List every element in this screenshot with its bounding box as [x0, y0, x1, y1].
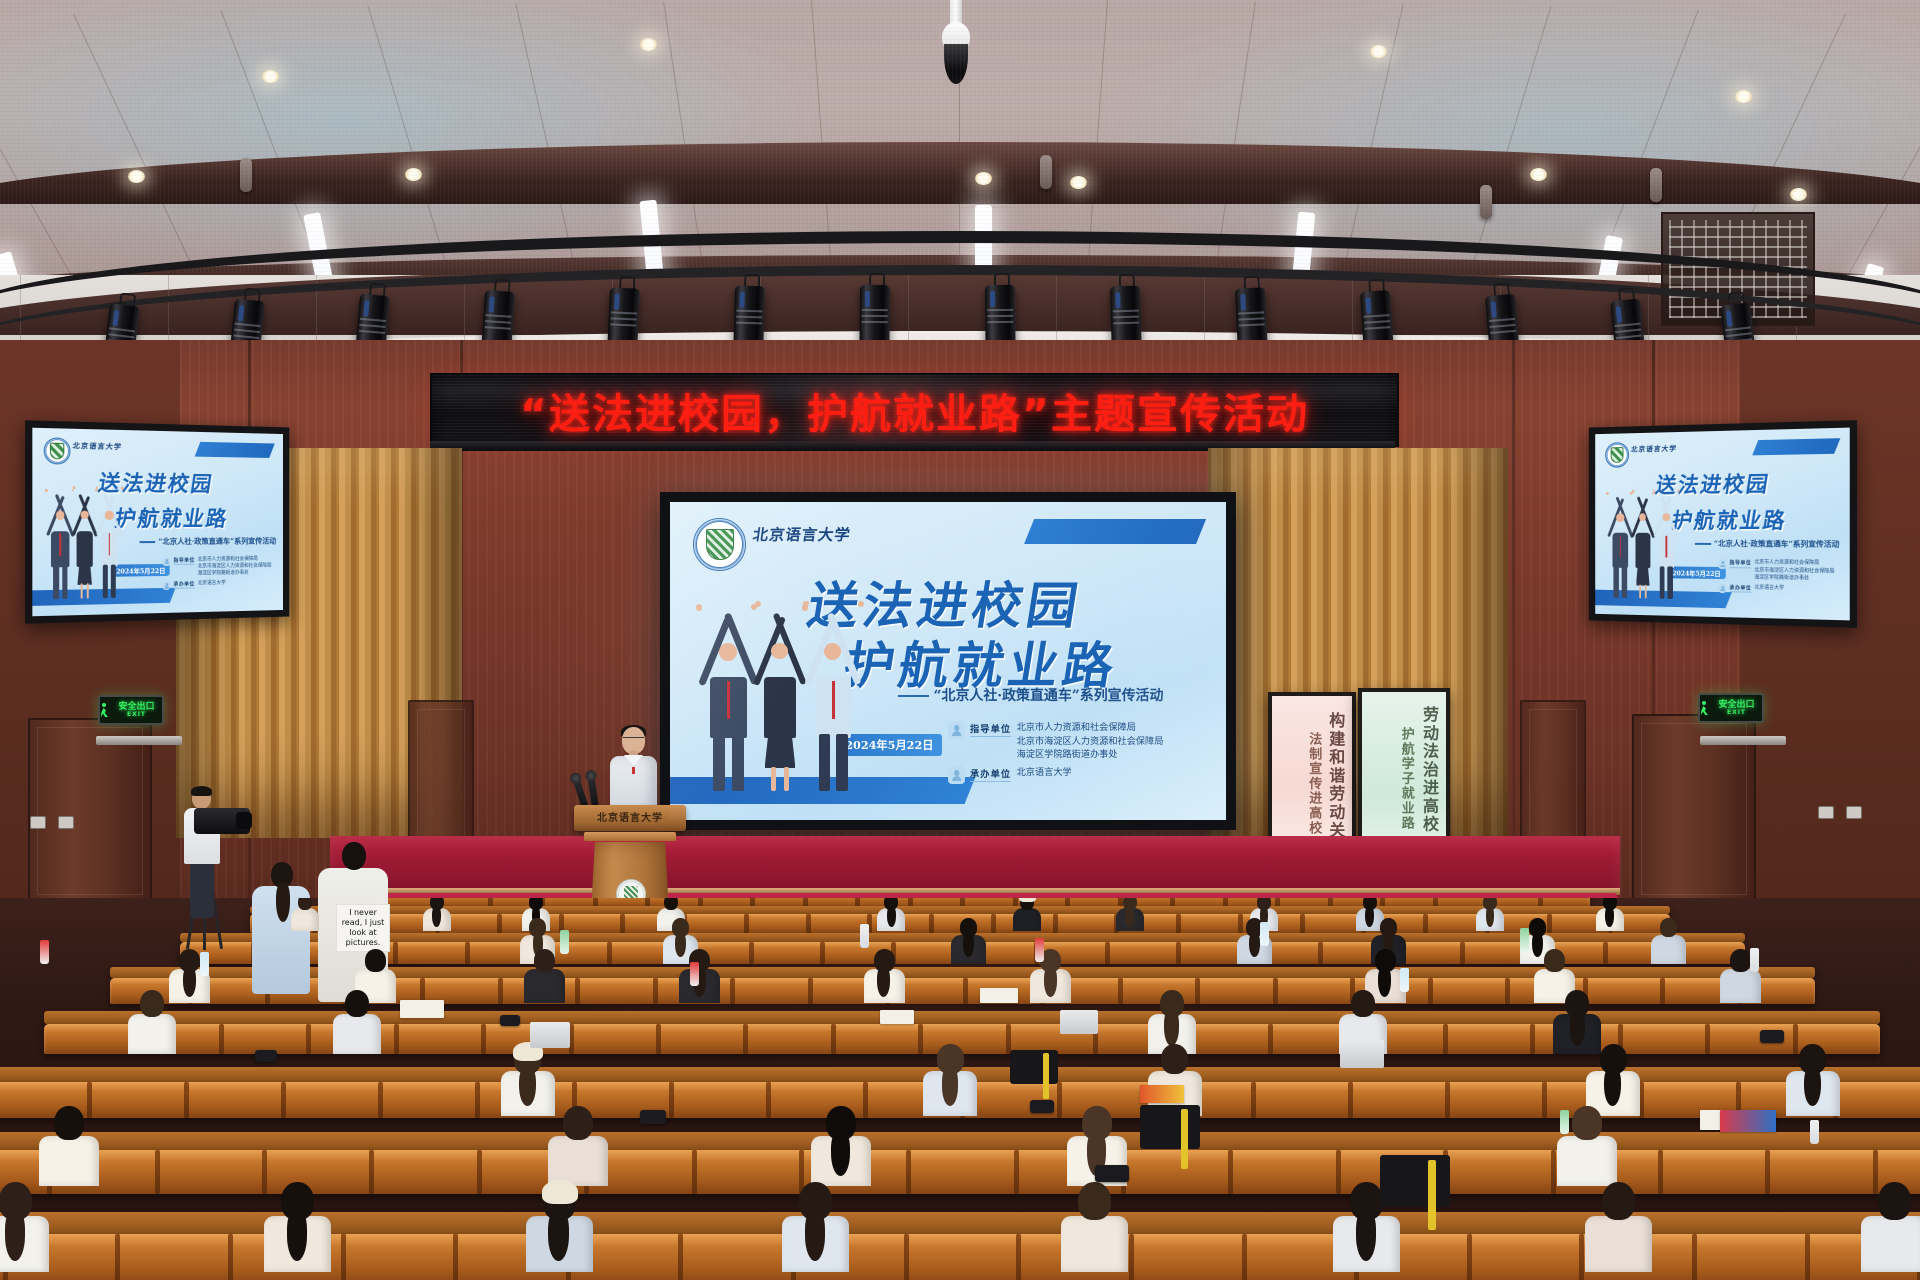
speaker-badge — [632, 767, 635, 774]
slide-accent-bar-top — [1023, 519, 1206, 544]
seat-divider — [184, 1082, 189, 1118]
lectern-front-text: 北京语言大学 — [574, 809, 686, 824]
slide-figure — [98, 487, 122, 598]
slide-organizer-values: 北京市人力资源和社会保障局北京市海淀区人力资源和社会保障局海淀区学院路街道办事处 — [198, 556, 272, 578]
seat-divider — [1228, 1150, 1233, 1194]
seat-divider — [1443, 1024, 1448, 1054]
wall-socket-3 — [1818, 806, 1834, 819]
slide-figure — [701, 601, 756, 792]
door-left[interactable] — [28, 718, 152, 904]
audience-person — [1061, 1182, 1128, 1276]
seat-divider — [991, 914, 996, 933]
tote-bag — [1010, 1050, 1058, 1084]
slide-subtitle: “北京人社·政策直通车”系列宣传活动 — [158, 536, 276, 545]
tote-bag — [1140, 1105, 1200, 1149]
audience-person — [811, 1106, 871, 1190]
audience-person — [679, 949, 720, 1006]
slide-organizer-value: 北京语言大学 — [1754, 584, 1784, 592]
seat-divider — [306, 1024, 311, 1054]
slide-headline-2: 护航就业路 — [113, 502, 231, 533]
videographer — [176, 786, 246, 954]
videographer-hair — [191, 786, 212, 796]
seat-divider — [1118, 978, 1123, 1004]
desk-row — [0, 1132, 1920, 1150]
seat-divider — [730, 978, 735, 1004]
slide-accent-bar-top — [195, 442, 275, 458]
seat-divider — [669, 1082, 674, 1118]
seat-divider — [1505, 978, 1510, 1004]
seat-divider — [369, 1150, 374, 1194]
desk-row — [250, 906, 1670, 914]
seat-divider — [1057, 1082, 1062, 1118]
tablet-device — [1340, 1040, 1384, 1068]
exit-sign-left-en: EXIT — [127, 712, 146, 718]
tote-strap — [1181, 1109, 1188, 1168]
university-crest-icon — [1605, 442, 1629, 468]
water-bottle — [560, 930, 569, 954]
seat-divider — [575, 978, 580, 1004]
seat-divider — [1242, 1234, 1247, 1280]
water-bottle — [860, 924, 869, 948]
dome-camera-icon — [938, 0, 974, 86]
led-banner-text: “送法进校园，护航就业路”主题宣传活动 — [520, 380, 1309, 440]
slide-organizer-row: 指导单位北京市人力资源和社会保障局北京市海淀区人力资源和社会保障局海淀区学院路街… — [948, 721, 1215, 761]
ceiling-downlight — [262, 70, 279, 83]
paper-handout — [880, 1010, 914, 1024]
seat-divider — [743, 1024, 748, 1054]
slide-university-name: 北京语言大学 — [1631, 444, 1678, 455]
paper-handout — [980, 988, 1018, 1003]
seat-divider — [1551, 1150, 1556, 1194]
slide-figure — [756, 601, 804, 792]
exit-sign-left: 安全出口 EXIT — [98, 695, 164, 725]
seat-divider — [1765, 1150, 1770, 1194]
slide-organizer-label: 指导单位 — [174, 556, 195, 565]
audience-person — [782, 1182, 849, 1276]
water-bottle — [690, 962, 699, 986]
tote-bag — [1380, 1155, 1450, 1207]
slide-accent-bar-top — [1752, 438, 1840, 455]
ceiling-downlight — [1370, 45, 1387, 58]
university-crest-icon — [44, 437, 70, 464]
slide-organizer-value: 北京市人力资源和社会保障局 — [1017, 721, 1164, 734]
seat-divider — [607, 942, 612, 964]
tablet-device — [1060, 1010, 1098, 1034]
seat-divider — [1105, 942, 1110, 964]
slide-organizer-value: 北京市海淀区人力资源和社会保障局 — [1017, 735, 1164, 748]
audience-person — [501, 1044, 555, 1119]
slide-figure — [1632, 489, 1653, 599]
slide-organizer-value: 海淀区学院路街道办事处 — [1754, 574, 1834, 583]
slide-organizer-value: 海淀区学院路街道办事处 — [198, 569, 272, 577]
wall-rail-right — [1700, 736, 1786, 745]
ceiling-speaker — [240, 158, 252, 192]
seat-divider — [1176, 914, 1181, 933]
seat-divider — [1273, 978, 1278, 1004]
seat-divider — [475, 1082, 480, 1118]
seat-divider — [1006, 1024, 1011, 1054]
seat-divider — [906, 1150, 911, 1194]
audience-person — [39, 1106, 99, 1190]
seat-divider — [465, 942, 470, 964]
slide-illustration-people — [698, 601, 859, 792]
seat-divider — [1016, 1234, 1021, 1280]
wall-rail-left — [96, 736, 182, 745]
seat-divider — [155, 1150, 160, 1194]
slide-organizer-row: 承办单位北京语言大学 — [1718, 584, 1844, 596]
water-bottle — [1810, 1120, 1819, 1144]
wall-socket-1 — [30, 816, 46, 829]
seat-divider — [1542, 1082, 1547, 1118]
ceiling-downlight — [1530, 168, 1547, 181]
seat-divider — [378, 1082, 383, 1118]
seat-divider — [904, 1234, 909, 1280]
slide-organizer-row: 承办单位北京语言大学 — [162, 579, 278, 590]
university-crest-icon — [693, 518, 746, 571]
ceiling-downlight — [405, 168, 422, 181]
audience-person — [1596, 898, 1624, 933]
seat-divider — [1603, 942, 1608, 964]
seat-divider — [744, 914, 749, 933]
wall-panel-seam — [1512, 340, 1515, 900]
rollup-right-line2: 护航学子就业路 — [1397, 727, 1416, 831]
seat-divider — [1705, 1024, 1710, 1054]
mobile-phone — [255, 1050, 277, 1062]
ceiling-downlight — [1735, 90, 1752, 103]
slide-organizer-values: 北京语言大学 — [198, 580, 226, 588]
seat-divider — [219, 1024, 224, 1054]
seat-divider — [1300, 914, 1305, 933]
seat-divider — [1318, 942, 1323, 964]
glasses-icon — [623, 737, 644, 742]
seat-divider — [1129, 1234, 1134, 1280]
lectern-top: 北京语言大学 — [574, 805, 686, 831]
person-icon — [162, 581, 171, 591]
exit-sign-right-en: EXIT — [1727, 710, 1746, 716]
seat-divider — [481, 1024, 486, 1054]
seat-divider — [341, 1234, 346, 1280]
slide-organizer-value: 北京语言大学 — [198, 580, 226, 588]
wall-socket-2 — [58, 816, 74, 829]
audience-person — [1585, 1182, 1652, 1276]
slide-organizer-label: 指导单位 — [1730, 559, 1752, 568]
side-display-right: 北京语言大学 送法进校园 护航就业路 “北京人社·政策直通车”系列宣传活动 20… — [1589, 420, 1857, 628]
seat-divider — [1428, 978, 1433, 1004]
seat-divider — [1530, 1024, 1535, 1054]
water-bottle — [1750, 948, 1759, 972]
audience-person — [291, 898, 319, 933]
seat-divider — [806, 914, 811, 933]
slide-organizer-values: 北京市人力资源和社会保障局北京市海淀区人力资源和社会保障局海淀区学院路街道办事处 — [1017, 721, 1164, 761]
seat-divider — [678, 1234, 683, 1280]
seat-divider — [1268, 1024, 1273, 1054]
seat-divider — [749, 942, 754, 964]
lectern-lip — [584, 832, 676, 841]
seat-divider — [1460, 942, 1465, 964]
slide-figure — [1608, 490, 1632, 599]
jacket-print-text: I never read, I just look at pictures. — [336, 904, 390, 952]
audience-person — [423, 898, 451, 933]
seat-divider — [1445, 1082, 1450, 1118]
slide-organizer-row: 指导单位北京市人力资源和社会保障局北京市海淀区人力资源和社会保障局海淀区学院路街… — [162, 555, 278, 578]
audience-person — [864, 949, 905, 1006]
slide-organizer-row: 承办单位北京语言大学 — [948, 766, 1215, 783]
slide-figure — [807, 601, 859, 792]
water-bottle — [1520, 928, 1529, 952]
person-icon — [948, 721, 965, 738]
person-icon — [948, 766, 965, 783]
mobile-phone — [500, 1015, 520, 1026]
audience-person — [1013, 898, 1041, 933]
mobile-phone — [1095, 1165, 1129, 1182]
slide-content-left: 北京语言大学 送法进校园 护航就业路 “北京人社·政策直通车”系列宣传活动 20… — [32, 428, 283, 617]
slide-figure — [47, 486, 73, 599]
seat-divider — [115, 1234, 120, 1280]
water-bottle — [1560, 1110, 1569, 1134]
seat-divider — [1423, 914, 1428, 933]
seat-divider — [453, 1234, 458, 1280]
side-display-left: 北京语言大学 送法进校园 护航就业路 “北京人社·政策直通车”系列宣传活动 20… — [25, 420, 289, 623]
rollup-right-line1: 劳动法治进高校 — [1417, 706, 1441, 834]
seat-divider — [1660, 978, 1665, 1004]
audience-person — [0, 1182, 49, 1276]
slide-organizer-value: 海淀区学院路街道办事处 — [1017, 748, 1164, 761]
slide-content-right: 北京语言大学 送法进校园 护航就业路 “北京人社·政策直通车”系列宣传活动 20… — [1595, 428, 1850, 621]
seat-divider — [1467, 1234, 1472, 1280]
led-marquee-banner: “送法进校园，护航就业路”主题宣传活动 — [430, 373, 1399, 447]
slide-organizer-label: 指导单位 — [970, 721, 1011, 737]
slide-figure — [1655, 489, 1678, 599]
slide-subtitle: “北京人社·政策直通车”系列宣传活动 — [1714, 539, 1840, 549]
lighting-truss — [0, 225, 1920, 345]
audience-person — [264, 1182, 331, 1276]
seat-divider — [766, 1082, 771, 1118]
seat-divider — [1053, 914, 1058, 933]
seat-divider — [656, 1024, 661, 1054]
water-bottle — [200, 952, 209, 976]
seat-divider — [963, 978, 968, 1004]
seat-divider — [1176, 942, 1181, 964]
audience-person — [951, 918, 986, 966]
wall-socket-4 — [1846, 806, 1862, 819]
audience-person — [1861, 1182, 1920, 1276]
camera-lens-icon — [236, 812, 252, 829]
mobile-phone — [1760, 1030, 1784, 1043]
slide-organizer-value: 北京语言大学 — [1017, 766, 1072, 779]
seat-divider — [497, 914, 502, 933]
ceiling-speaker — [1650, 168, 1662, 202]
audience-person — [923, 1044, 977, 1119]
desk-row — [44, 1011, 1880, 1024]
seat-divider — [1692, 1234, 1697, 1280]
audience-person — [333, 990, 381, 1057]
ceiling-downlight — [975, 172, 992, 185]
audience-person — [1786, 1044, 1840, 1119]
seat-divider — [653, 978, 658, 1004]
slide-organizers: 指导单位北京市人力资源和社会保障局北京市海淀区人力资源和社会保障局海淀区学院路街… — [948, 721, 1215, 788]
audience-person — [526, 1182, 593, 1276]
audience-person — [1116, 898, 1144, 933]
slide-organizers: 指导单位北京市人力资源和社会保障局北京市海淀区人力资源和社会保障局海淀区学院路街… — [1718, 559, 1844, 598]
water-bottle — [1035, 938, 1044, 962]
ceiling-downlight — [1070, 176, 1087, 189]
ceiling-speaker — [1480, 185, 1492, 219]
seat-divider — [228, 1234, 233, 1280]
mobile-phone — [640, 1110, 666, 1124]
running-man-icon — [1700, 701, 1709, 715]
mobile-phone — [1030, 1100, 1054, 1113]
slide-figure — [73, 487, 96, 599]
slide-organizer-values: 北京市人力资源和社会保障局北京市海淀区人力资源和社会保障局海淀区学院路街道办事处 — [1754, 560, 1834, 583]
ceiling-downlight — [640, 38, 657, 51]
person-icon — [1718, 559, 1727, 569]
seat-divider — [1251, 1082, 1256, 1118]
tote-strap — [1428, 1160, 1436, 1230]
exit-sign-right: 安全出口 EXIT — [1698, 693, 1764, 723]
main-projection-screen: 北京语言大学 送法进校园 护航就业路 “北京人社·政策直通车”系列宣传活动 20… — [660, 492, 1236, 830]
slide-organizers: 指导单位北京市人力资源和社会保障局北京市海淀区人力资源和社会保障局海淀区学院路街… — [162, 555, 278, 592]
baseball-cap — [542, 1180, 578, 1204]
slide-organizer-label: 承办单位 — [174, 580, 195, 589]
audience-person — [877, 898, 905, 933]
seat-divider — [1805, 1234, 1810, 1280]
leaflet — [1140, 1085, 1184, 1103]
slide-organizer-values: 北京语言大学 — [1017, 766, 1072, 779]
audience-person — [128, 990, 176, 1057]
slide-organizer-label: 承办单位 — [970, 766, 1011, 782]
seat-divider — [1658, 1150, 1663, 1194]
videographer-legs — [190, 862, 214, 918]
slide-university-name: 北京语言大学 — [752, 523, 853, 545]
leaflet — [1720, 1110, 1776, 1132]
tote-strap — [1043, 1053, 1049, 1099]
seat-divider — [929, 914, 934, 933]
seat-divider — [820, 942, 825, 964]
water-bottle — [40, 940, 49, 964]
seat-divider — [692, 1150, 697, 1194]
seat-divider — [1014, 1150, 1019, 1194]
paper-handout — [400, 1000, 444, 1018]
person-icon — [1718, 584, 1727, 594]
ceiling-downlight — [1790, 188, 1807, 201]
slide-organizer-label: 承办单位 — [1730, 584, 1752, 593]
tablet-device — [530, 1022, 570, 1048]
audience-person — [1476, 898, 1504, 933]
rollup-left-line2: 法制宣传进高校 — [1304, 732, 1323, 836]
auditorium-scene: “送法进校园，护航就业路”主题宣传活动 北京语言大学 送法进校园 护航就业路 “… — [0, 0, 1920, 1280]
ceiling-arch-band-upper — [0, 142, 1920, 204]
seat-divider — [808, 978, 813, 1004]
seat-divider — [831, 1024, 836, 1054]
slide-illustration-people — [1607, 489, 1678, 599]
person-icon — [162, 556, 171, 566]
water-bottle — [1260, 922, 1269, 946]
baseball-cap — [1019, 898, 1036, 902]
audience-person — [524, 949, 565, 1006]
seat-divider — [394, 1024, 399, 1054]
slide-university-name: 北京语言大学 — [71, 441, 122, 452]
slide-content-main: 北京语言大学 送法进校园 护航就业路 “北京人社·政策直通车”系列宣传活动 20… — [670, 502, 1226, 820]
seat-divider — [1348, 1082, 1353, 1118]
seat-divider — [477, 1150, 482, 1194]
slide-illustration-people — [46, 486, 122, 599]
water-bottle — [1400, 968, 1409, 992]
ceiling-speaker — [1040, 155, 1052, 189]
audience-person — [548, 1106, 608, 1190]
slide-headline-2: 护航就业路 — [1669, 503, 1789, 535]
seat-divider — [620, 914, 625, 933]
audience-person — [1651, 918, 1686, 966]
slide-subtitle: “北京人社·政策直通车”系列宣传活动 — [933, 688, 1163, 704]
seat-divider — [281, 1082, 286, 1118]
ceiling-downlight — [128, 170, 145, 183]
seat-divider — [498, 978, 503, 1004]
slide-organizer-row: 指导单位北京市人力资源和社会保障局北京市海淀区人力资源和社会保障局海淀区学院路街… — [1718, 559, 1844, 583]
running-man-icon — [100, 703, 109, 717]
slide-organizer-values: 北京语言大学 — [1754, 584, 1784, 592]
